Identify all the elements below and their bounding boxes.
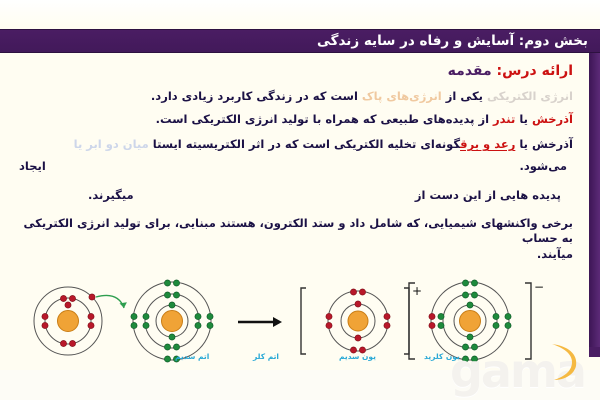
p3-link-thunder-lightning[interactable]: رعد و برق — [460, 137, 515, 151]
section-title-band: بخش دوم: آسایش و رفاه در سایه زندگی — [0, 29, 600, 53]
paragraph-4-left: میگیرند. — [88, 188, 134, 202]
section-title-text: بخش دوم: آسایش و رفاه در سایه زندگی — [317, 33, 588, 49]
p2-red-lightning: آذرخش — [532, 112, 573, 126]
chloride-ion-charge: − — [534, 280, 544, 294]
diagram-label-sodium-ion: یون سدیم — [339, 352, 376, 361]
p3-line2: می‌شود. — [519, 159, 567, 173]
p1-faded-clean-energies: انرژی‌های پاک — [362, 89, 442, 103]
slide-canvas: بخش دوم: آسایش و رفاه در سایه زندگی ارائ… — [0, 0, 600, 400]
sodium-ion-charge: + — [412, 284, 422, 298]
paragraph-4-right: پدیده هایی از این دست از — [415, 188, 561, 202]
p3-faded-tail: میان دو ابر یا — [74, 137, 149, 151]
right-accent-bar — [589, 53, 600, 353]
paragraph-3-left-word: ایجاد — [19, 159, 46, 173]
p1-rest: است که در زندگی کاربرد زیادی دارد. — [151, 89, 358, 103]
p3-after: گونه‌ای تخلیه الکتریکی است که در اثر الک… — [153, 137, 460, 151]
p2-red-thunder: تندر — [493, 112, 515, 126]
watermark-swoosh-icon — [548, 342, 582, 382]
p1-mid: یکی از — [446, 89, 483, 103]
lesson-title-name: مقدمه — [448, 63, 492, 79]
paragraph-1: انرژی الکتریکی یکی از انرژی‌های پاک است … — [10, 88, 573, 104]
paragraph-5: برخی واکنشهای شیمیایی، که شامل داد و ستد… — [10, 216, 573, 262]
p2-rest: از پدیده‌های طبیعی که همراه با تولید انر… — [156, 112, 489, 126]
atom-chlorine — [131, 280, 213, 362]
p3-ijad-text: ایجاد — [19, 159, 46, 173]
paragraph-3: آذرخش یا رعد و برقگونه‌ای تخلیه الکتریکی… — [10, 137, 573, 186]
paragraph-5-line-2: میآیند. — [10, 247, 573, 262]
electron-transfer-arrow — [96, 295, 127, 308]
right-accent-bar-cap — [589, 347, 600, 357]
ion-sodium: + — [301, 284, 422, 354]
top-cream-strip — [0, 0, 600, 29]
p2-mid: یا — [519, 112, 528, 126]
paragraph-3-line-2: می‌شود. — [519, 159, 567, 173]
diagram-label-sodium-atom: اتم سدیم — [175, 352, 209, 361]
p3-lead: آذرخش یا — [519, 137, 573, 151]
paragraph-2: آذرخش یا تندر از پدیده‌های طبیعی که همرا… — [10, 111, 573, 127]
atom-sodium — [34, 287, 102, 355]
reaction-arrow — [238, 317, 282, 327]
paragraph-4: پدیده هایی از این دست از میگیرند. — [10, 188, 573, 208]
paragraph-3-line-1: آذرخش یا رعد و برقگونه‌ای تخلیه الکتریکی… — [74, 137, 573, 151]
lesson-title: ارائه درس: مقدمه — [10, 63, 573, 79]
diagram-label-chlorine-atom: اتم کلر — [253, 352, 279, 361]
p1-faded-electric-energy: انرژی الکتریکی — [487, 89, 573, 103]
lesson-title-prefix: ارائه درس: — [497, 63, 573, 79]
paragraph-5-line-1: برخی واکنشهای شیمیایی، که شامل داد و ستد… — [24, 216, 573, 245]
